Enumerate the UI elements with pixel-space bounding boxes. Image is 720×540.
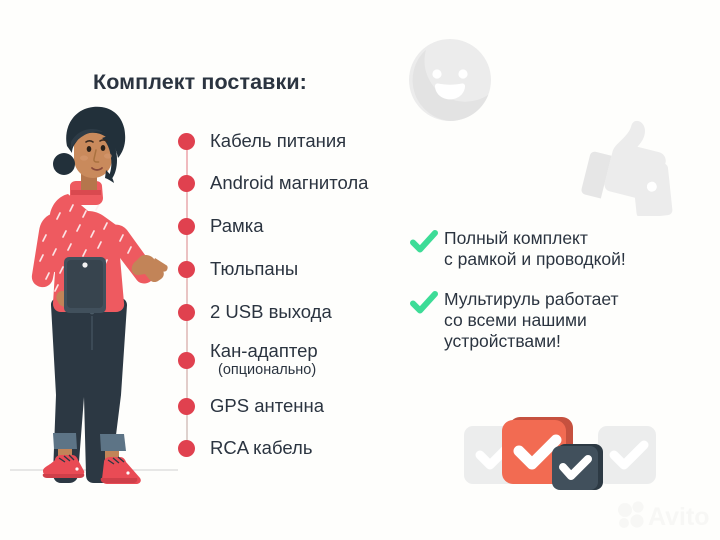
woman-with-tablet-illustration xyxy=(8,98,178,504)
bullet-dot-icon xyxy=(178,175,195,192)
list-item-label: Кан-адаптер xyxy=(210,340,318,361)
bullet-dot-icon xyxy=(178,440,195,457)
benefit-line-1: Полный комплект xyxy=(444,228,626,249)
benefit-line-3: устройствами! xyxy=(444,331,619,352)
list-item-label: RCA кабель xyxy=(210,437,312,458)
bullet-dot-icon xyxy=(178,133,195,150)
promo-canvas: Комплект поставки: Кабель питания Androi… xyxy=(0,0,720,540)
bullet-dot-icon xyxy=(178,218,195,235)
green-check-icon xyxy=(410,229,438,255)
benefit-item: Полный комплект с рамкой и проводкой! xyxy=(410,228,700,271)
benefit-text: Полный комплект с рамкой и проводкой! xyxy=(444,228,626,271)
benefit-line-2: со всеми нашими xyxy=(444,310,619,331)
list-item-label: Тюльпаны xyxy=(210,258,298,279)
list-item-label: Android магнитола xyxy=(210,172,368,193)
green-check-icon xyxy=(410,290,438,316)
thumbs-up-icon xyxy=(572,112,684,216)
bullet-dot-icon xyxy=(178,352,195,369)
bullet-dot-icon xyxy=(178,398,195,415)
avito-watermark: Avito xyxy=(616,498,714,532)
benefit-line-2: с рамкой и проводкой! xyxy=(444,249,626,270)
list-item-label: 2 USB выхода xyxy=(210,301,332,322)
benefit-text: Мультируль работает со всеми нашими устр… xyxy=(444,289,619,353)
avito-watermark-text: Avito xyxy=(648,503,710,531)
benefits-list: Полный комплект с рамкой и проводкой! Му… xyxy=(410,228,700,371)
benefit-line-1: Мультируль работает xyxy=(444,289,619,310)
smiley-face-icon xyxy=(406,36,494,124)
bullet-dot-icon xyxy=(178,304,195,321)
page-title: Комплект поставки: xyxy=(93,70,307,95)
checkbox-group-icon xyxy=(462,412,658,496)
list-item-label: Рамка xyxy=(210,215,264,236)
list-item-sublabel: (опционально) xyxy=(218,363,316,379)
list-item-label: GPS антенна xyxy=(210,395,324,416)
benefit-item: Мультируль работает со всеми нашими устр… xyxy=(410,289,700,353)
list-item-label: Кабель питания xyxy=(210,130,346,151)
bullet-dot-icon xyxy=(178,261,195,278)
